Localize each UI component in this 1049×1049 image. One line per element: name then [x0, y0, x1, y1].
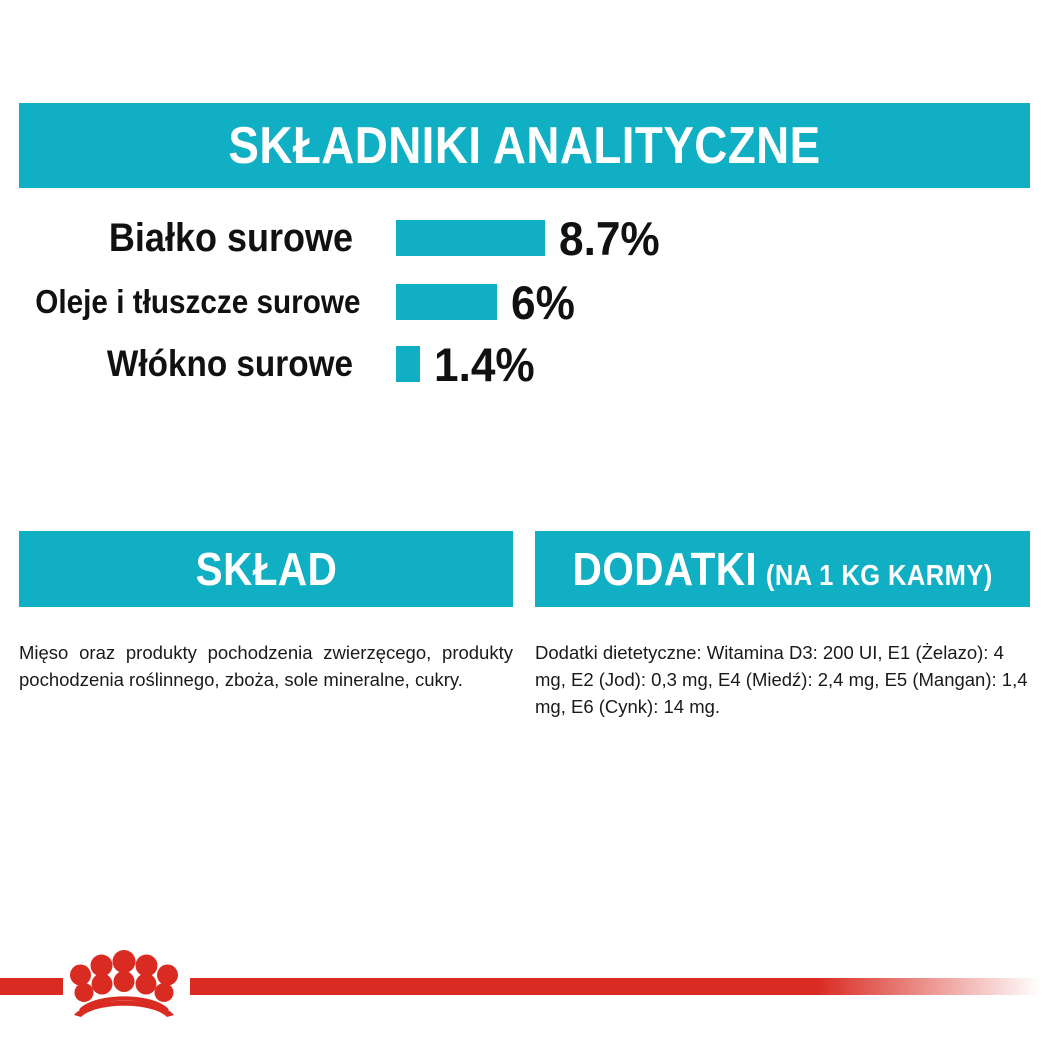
additives-title-group: DODATKI(na 1 kg karmy): [572, 542, 992, 596]
additives-subtitle: (na 1 kg karmy): [766, 560, 993, 592]
nutrient-bar-group-protein: 8.7%: [396, 215, 666, 262]
royal-canin-crown-icon: [68, 946, 180, 1018]
composition-header-bar: SKŁAD: [19, 531, 513, 607]
nutrient-bar-group-fat: 6%: [396, 279, 579, 326]
additives-body-text: Dodatki dietetyczne: Witamina D3: 200 UI…: [535, 639, 1032, 720]
brand-stripe-left: [0, 978, 63, 995]
nutrient-label-fat: Oleje i tłuszcze surowe: [35, 283, 353, 321]
composition-body-text: Mięso oraz produkty pochodzenia zwierzęc…: [19, 639, 513, 693]
nutrient-bar-fat: [396, 284, 497, 320]
nutrient-label-fibre: Włókno surowe: [35, 343, 353, 385]
nutrient-value-protein: 8.7%: [559, 215, 660, 262]
nutrient-value-fibre: 1.4%: [434, 341, 535, 388]
additives-title: DODATKI: [572, 543, 756, 595]
nutrient-bar-fibre: [396, 346, 420, 382]
nutrient-row-fat: Oleje i tłuszcze surowe 6%: [0, 271, 1049, 333]
brand-footer: [0, 930, 1049, 1049]
nutrient-value-fat: 6%: [511, 279, 575, 326]
nutrient-bar-group-fibre: 1.4%: [396, 341, 541, 388]
nutrient-row-fibre: Włókno surowe 1.4%: [0, 333, 1049, 395]
brand-stripe-right: [190, 978, 1049, 995]
analytical-constituents-chart: Białko surowe 8.7% Oleje i tłuszcze suro…: [0, 205, 1049, 395]
nutrient-label-protein: Białko surowe: [35, 216, 353, 261]
analytical-constituents-title: SKŁADNIKI ANALITYCZNE: [228, 116, 820, 176]
product-nutrition-panel: SKŁADNIKI ANALITYCZNE Białko surowe 8.7%…: [0, 0, 1049, 1049]
nutrient-bar-protein: [396, 220, 545, 256]
additives-header-bar: DODATKI(na 1 kg karmy): [535, 531, 1030, 607]
analytical-constituents-header-bar: SKŁADNIKI ANALITYCZNE: [19, 103, 1030, 188]
composition-title: SKŁAD: [195, 542, 337, 596]
nutrient-row-protein: Białko surowe 8.7%: [0, 205, 1049, 271]
